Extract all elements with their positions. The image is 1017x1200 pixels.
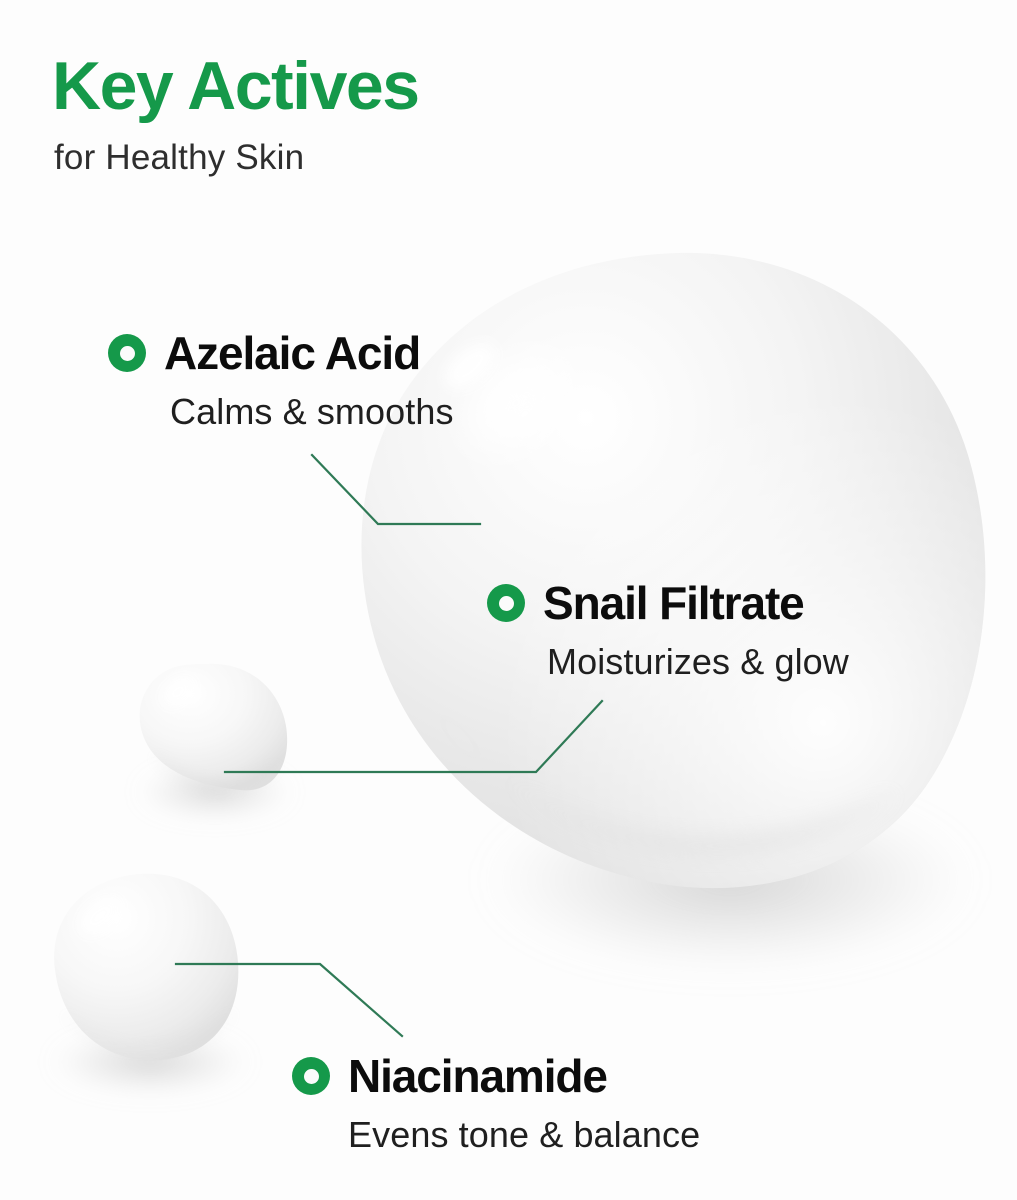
medium-serum-droplet xyxy=(137,664,293,818)
active-heading-row: Snail Filtrate xyxy=(487,580,849,626)
ring-bullet-icon xyxy=(487,584,525,622)
key-actives-infographic: Key Actives for Healthy Skin Azelaic Aci… xyxy=(0,0,1017,1200)
active-description: Calms & smooths xyxy=(170,394,454,430)
leader-line-snail xyxy=(225,701,602,772)
ring-bullet-icon xyxy=(292,1057,330,1095)
active-name: Snail Filtrate xyxy=(543,580,804,626)
poster-header: Key Actives for Healthy Skin xyxy=(52,52,692,178)
active-name: Niacinamide xyxy=(348,1053,607,1099)
active-name: Azelaic Acid xyxy=(164,330,420,376)
active-item-snail-filtrate: Snail Filtrate Moisturizes & glow xyxy=(487,580,849,680)
active-heading-row: Azelaic Acid xyxy=(108,330,454,376)
leader-line-azelaic xyxy=(312,455,480,524)
active-item-niacinamide: Niacinamide Evens tone & balance xyxy=(292,1053,700,1153)
page-title: Key Actives xyxy=(52,52,692,120)
ring-bullet-icon xyxy=(108,334,146,372)
small-serum-droplet xyxy=(50,874,250,1094)
active-heading-row: Niacinamide xyxy=(292,1053,700,1099)
active-item-azelaic-acid: Azelaic Acid Calms & smooths xyxy=(108,330,454,430)
leader-line-niacinamide xyxy=(176,964,402,1036)
page-subtitle: for Healthy Skin xyxy=(54,138,692,178)
active-description: Evens tone & balance xyxy=(348,1117,700,1153)
active-description: Moisturizes & glow xyxy=(547,644,849,680)
